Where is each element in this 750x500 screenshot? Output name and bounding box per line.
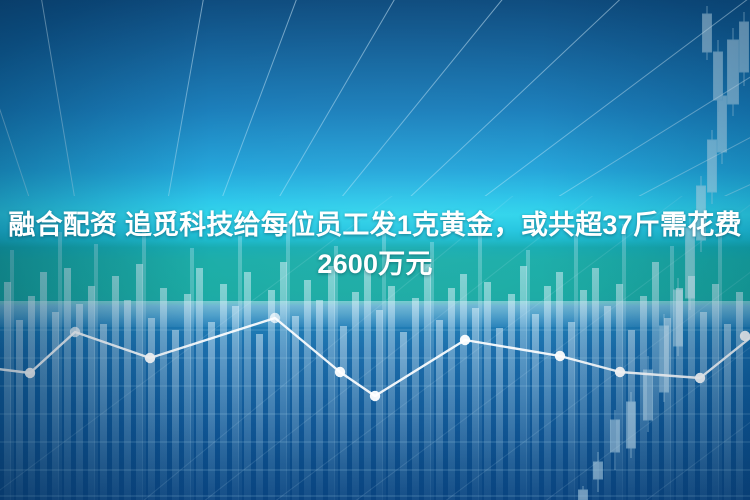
banner-image: 融合配资 追觅科技给每位员工发1克黄金，或共超37斤需花费2600万元: [0, 0, 750, 500]
headline-text: 融合配资 追觅科技给每位员工发1克黄金，或共超37斤需花费2600万元: [0, 206, 750, 284]
